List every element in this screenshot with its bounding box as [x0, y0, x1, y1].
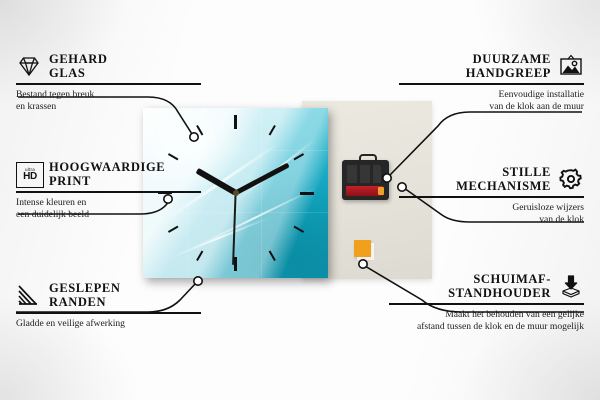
feature-description: Intense kleuren en een duidelijk beeld: [16, 197, 201, 222]
diamond-icon: [16, 54, 42, 78]
divider: [16, 312, 201, 314]
feature-title: DUURZAME HANDGREEP: [466, 52, 551, 80]
feature-stille-mechanisme: STILLE MECHANISME Geruisloze wijzers van…: [399, 165, 584, 227]
feature-duurzame-handgreep: DUURZAME HANDGREEP Eenvoudige installati…: [399, 52, 584, 114]
ultra-hd-icon: ultra HD: [16, 162, 42, 186]
divider: [399, 196, 584, 198]
battery: [346, 186, 383, 196]
product-infographic: GEHARD GLAS Bestand tegen breuk en krass…: [0, 0, 600, 400]
feature-gehard-glas: GEHARD GLAS Bestand tegen breuk en krass…: [16, 52, 201, 114]
feature-description: Maakt het behouden van een gelijke afsta…: [389, 309, 584, 334]
feature-title: STILLE MECHANISME: [456, 165, 551, 193]
clock-center-cap: [233, 190, 239, 196]
picture-frame-icon: [558, 54, 584, 78]
divider: [16, 191, 201, 193]
divider: [389, 303, 584, 305]
foam-spacer: [354, 240, 371, 257]
feature-title: SCHUIMAF- STANDHOUDER: [448, 272, 551, 300]
feature-description: Geruisloze wijzers van de klok: [399, 202, 584, 227]
feature-title: HOOGWAARDIGE PRINT: [49, 160, 165, 188]
gear-icon: [558, 167, 584, 191]
clock-tick: [236, 192, 314, 194]
clock-tick: [235, 115, 237, 193]
feature-schuimafstandhouder: SCHUIMAF- STANDHOUDER Maakt het behouden…: [389, 272, 584, 334]
mechanism-detail: [347, 165, 381, 183]
beveled-edge-icon: [16, 283, 42, 307]
feature-hoogwaardige-print: ultra HD HOOGWAARDIGE PRINT Intense kleu…: [16, 160, 201, 222]
divider: [399, 83, 584, 85]
feature-description: Gladde en veilige afwerking: [16, 318, 201, 330]
press-down-icon: [558, 274, 584, 298]
mechanism-body: [342, 160, 389, 200]
feature-title: GEHARD GLAS: [49, 52, 107, 80]
feature-description: Eenvoudige installatie van de klok aan d…: [399, 89, 584, 114]
feature-title: GESLEPEN RANDEN: [49, 281, 121, 309]
clock-mechanism: [342, 160, 389, 200]
feature-description: Bestand tegen breuk en krassen: [16, 89, 201, 114]
divider: [16, 83, 201, 85]
feature-geslepen-randen: GESLEPEN RANDEN Gladde en veilige afwerk…: [16, 281, 201, 330]
